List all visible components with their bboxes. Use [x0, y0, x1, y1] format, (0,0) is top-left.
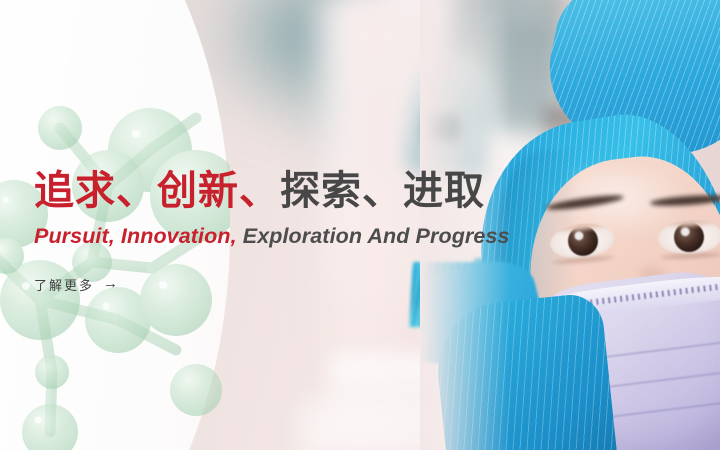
- hero-text-block: 追求、创新、探索、进取 Pursuit, Innovation, Explora…: [34, 168, 654, 295]
- headline-dark-segment: 探索、进取: [280, 169, 485, 213]
- headline-red-segment: 追求、创新、: [34, 169, 280, 213]
- learn-more-link[interactable]: 了解更多 →: [34, 275, 118, 294]
- learn-more-label: 了解更多: [34, 275, 94, 294]
- hero-banner: 追求、创新、探索、进取 Pursuit, Innovation, Explora…: [0, 0, 720, 450]
- page-subtitle: Pursuit, Innovation, Exploration And Pro…: [34, 224, 654, 249]
- subtitle-red-segment: Pursuit, Innovation,: [34, 224, 243, 248]
- page-title: 追求、创新、探索、进取: [34, 168, 654, 214]
- arrow-right-icon: →: [103, 276, 118, 291]
- subtitle-dark-segment: Exploration And Progress: [243, 224, 510, 248]
